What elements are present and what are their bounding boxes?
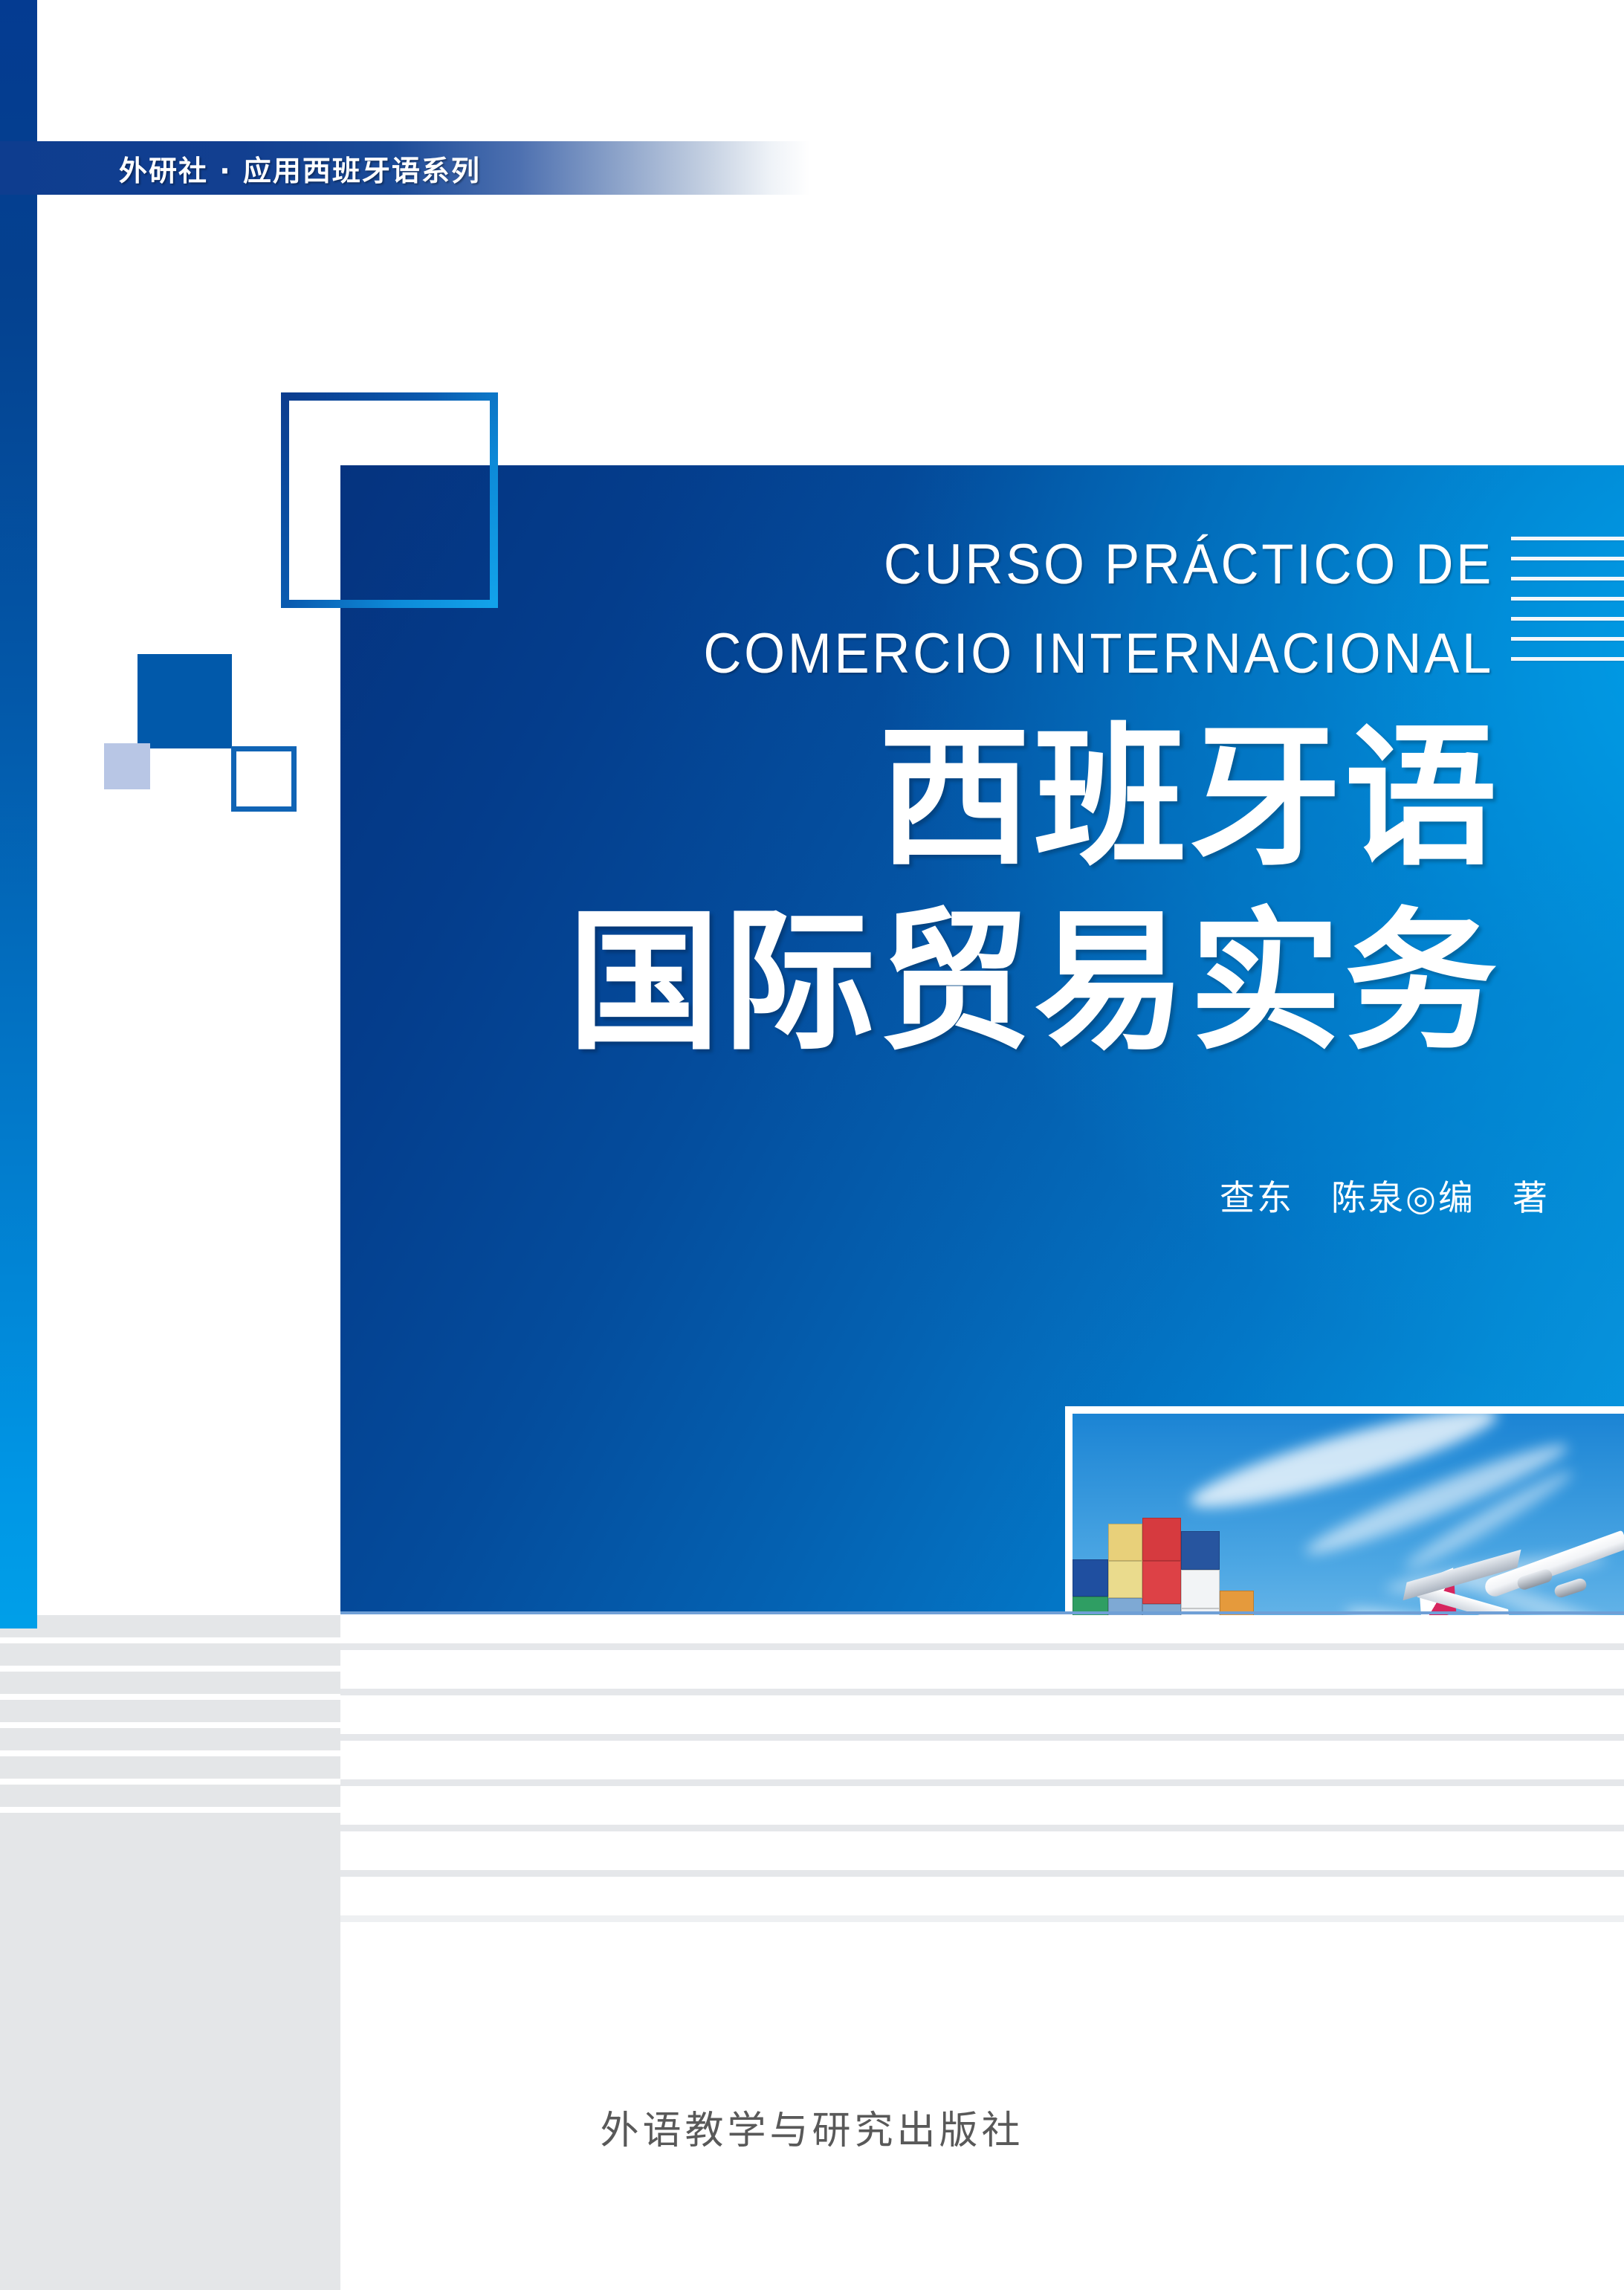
ruled-line [1511, 597, 1624, 601]
stripe-band [0, 1672, 340, 1694]
chinese-title-line-2: 国际贸易实务 [342, 890, 1500, 1075]
stripe-rule [340, 1915, 1624, 1922]
panel-bottom-edge [340, 1611, 1624, 1614]
stripes-right-region [340, 1615, 1624, 2290]
spanish-subtitle-line-1: CURSO PRÁCTICO DE [423, 520, 1495, 609]
stripe-rule [340, 1779, 1624, 1786]
left-bar-foot [0, 1615, 37, 1628]
stripe-band [0, 1615, 340, 1637]
spanish-subtitle-line-2: COMERCIO INTERNACIONAL [423, 609, 1495, 699]
left-gradient-bar [0, 0, 37, 1628]
chinese-main-title: 西班牙语 国际贸易实务 [342, 706, 1500, 1075]
ruled-line [1511, 537, 1624, 540]
stripe-rule [340, 1643, 1624, 1650]
authors-line: 查东 陈泉◎编 著 [743, 1169, 1550, 1220]
stripe-band [0, 1700, 340, 1722]
stripe-band-tall [0, 1813, 340, 2290]
airplane-engine [1553, 1577, 1588, 1600]
stripe-band [0, 1785, 340, 1807]
book-cover: 外研社 · 应用西班牙语系列 CURSO PRÁCTICO DE COMERCI… [0, 0, 1624, 2290]
stripe-band [0, 1756, 340, 1779]
ruled-lines-decoration [1511, 537, 1624, 664]
small-outlined-square [231, 746, 297, 812]
stripe-rule [340, 1870, 1624, 1877]
publisher-name: 外语教学与研究出版社 [0, 2099, 1624, 2155]
ruled-line [1511, 617, 1624, 621]
ruled-line [1511, 657, 1624, 661]
stripes-left-region [0, 1615, 340, 2290]
chinese-title-line-1: 西班牙语 [342, 706, 1500, 890]
spanish-subtitle: CURSO PRÁCTICO DE COMERCIO INTERNACIONAL [423, 520, 1495, 699]
stripe-rule [340, 1689, 1624, 1695]
stripe-rule [340, 1825, 1624, 1831]
small-lavender-square [104, 743, 150, 789]
series-label: 外研社 · 应用西班牙语系列 [119, 143, 481, 193]
ruled-line [1511, 557, 1624, 560]
stripe-band [0, 1728, 340, 1750]
filled-blue-square [138, 654, 232, 748]
ruled-line [1511, 637, 1624, 641]
stripe-rule [340, 1734, 1624, 1741]
ruled-line [1511, 577, 1624, 580]
stripe-band [0, 1643, 340, 1666]
